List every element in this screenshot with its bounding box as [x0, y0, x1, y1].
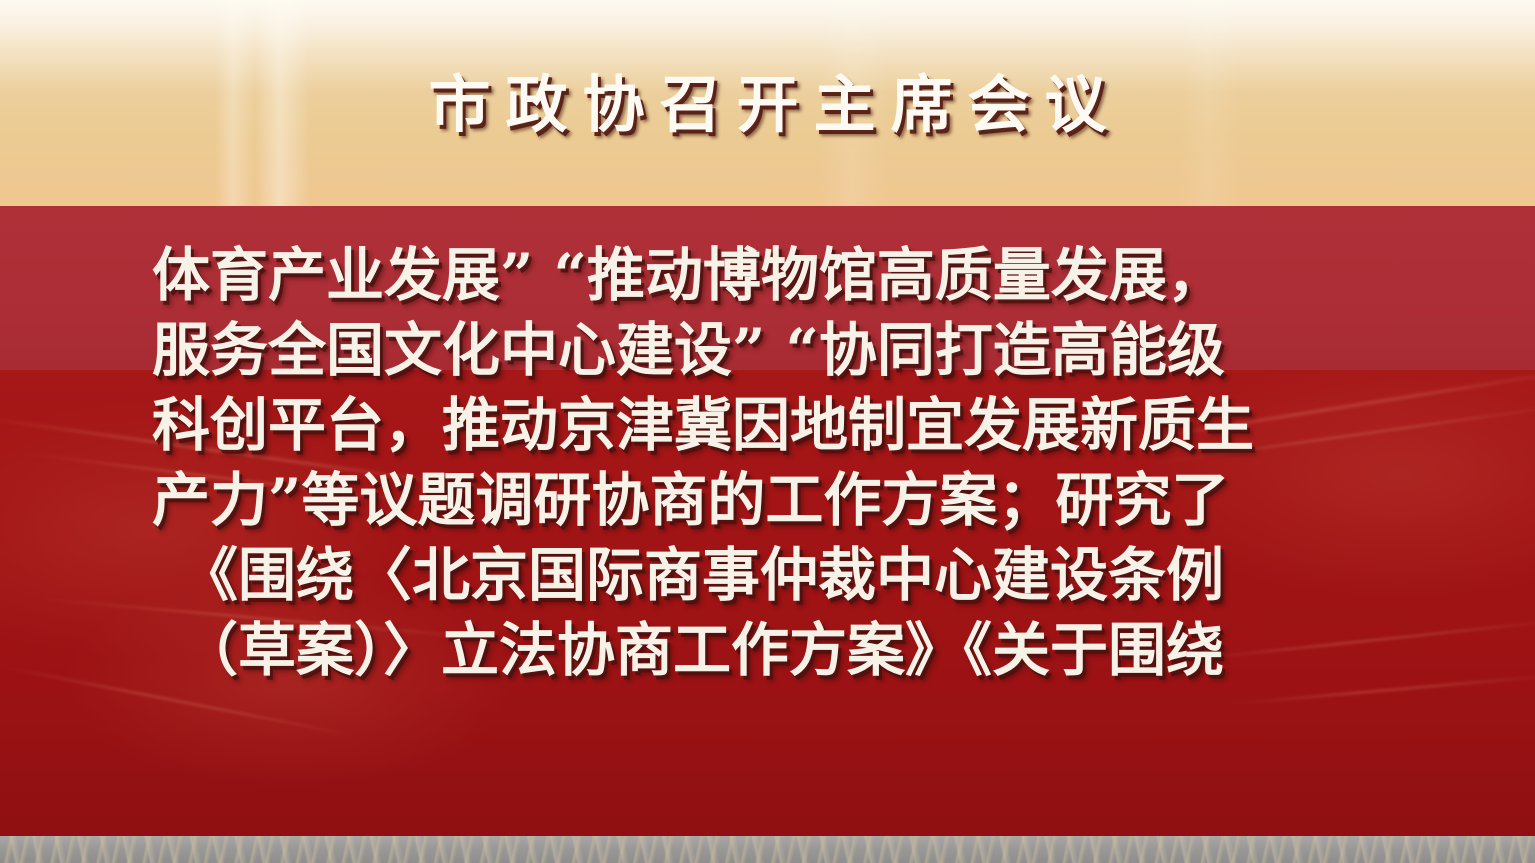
caption-line: （草案）〉立法协商工作方案》《关于围绕: [152, 613, 1392, 688]
caption-text-block: 体育产业发展” “推动博物馆高质量发展， 服务全国文化中心建设” “协同打造高能…: [152, 238, 1392, 688]
caption-line: 产力”等议题调研协商的工作方案；研究了: [152, 463, 1392, 538]
caption-line: 体育产业发展” “推动博物馆高质量发展，: [152, 238, 1392, 313]
caption-line: 《围绕〈北京国际商事仲裁中心建设条例: [152, 538, 1392, 613]
page-title: 市政协召开主席会议: [0, 74, 1535, 136]
caption-line: 服务全国文化中心建设” “协同打造高能级: [152, 313, 1392, 388]
video-frame-bottom-strip: [0, 836, 1535, 863]
broadcast-lower-third-screen: 市政协召开主席会议 体育产业发展” “推动博物馆高质量发展， 服务全国文化中心建…: [0, 0, 1535, 863]
caption-line: 科创平台，推动京津冀因地制宜发展新质生: [152, 388, 1392, 463]
headline-gold-band: 市政协召开主席会议: [0, 0, 1535, 206]
